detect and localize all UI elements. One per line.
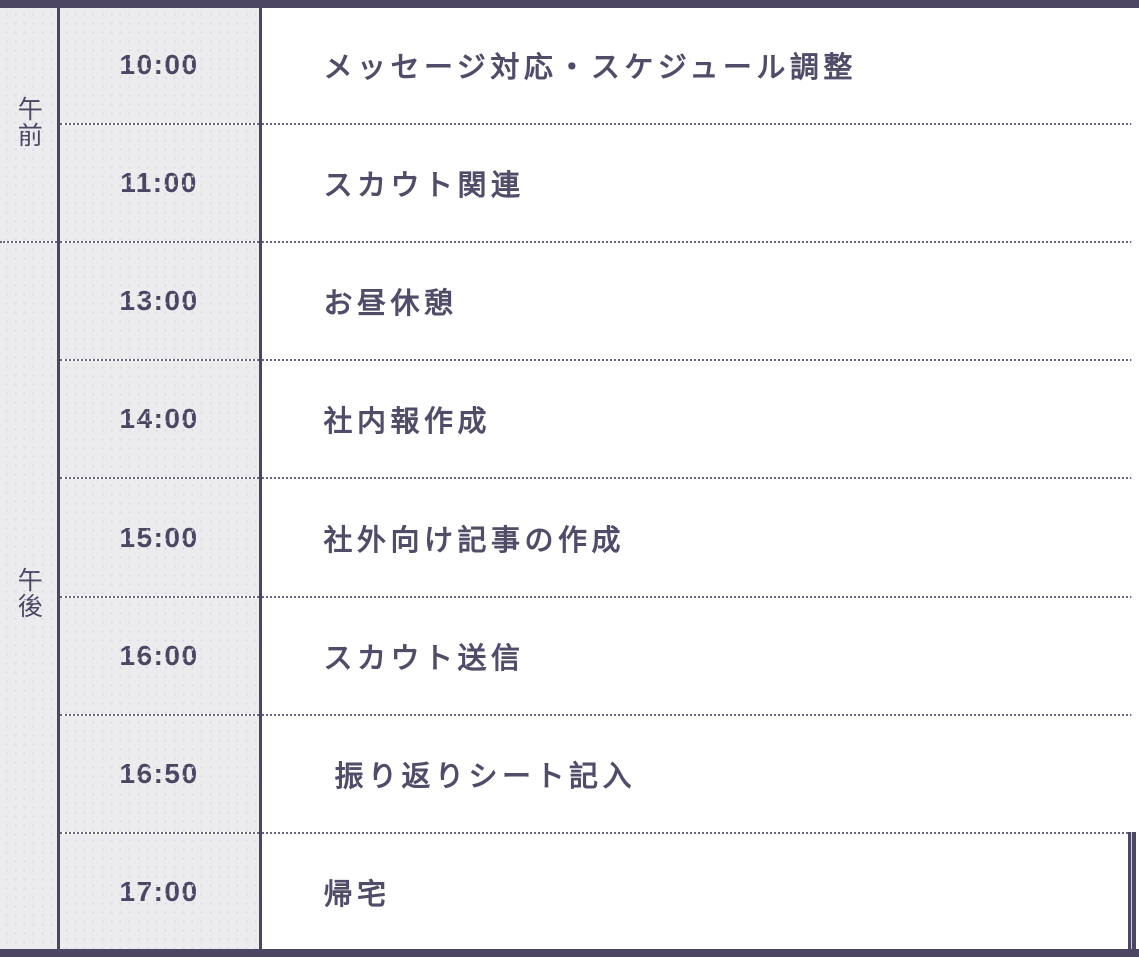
time-cell: 15:00: [58, 478, 260, 596]
table-row: 16:00 スカウト送信: [0, 597, 1132, 715]
task-cell: スカウト送信: [260, 597, 1132, 715]
table-row: 11:00 スカウト関連: [0, 124, 1132, 242]
task-cell: 帰宅: [260, 833, 1132, 949]
time-cell: 16:00: [58, 597, 260, 715]
time-value: 13:00: [119, 285, 198, 316]
table-row: 16:50 振り返りシート記入: [0, 715, 1132, 833]
task-value: 社外向け記事の作成: [324, 525, 626, 557]
task-cell: メッセージ対応・スケジュール調整: [260, 8, 1132, 124]
table-row: 14:00 社内報作成: [0, 360, 1132, 478]
time-value: 15:00: [119, 522, 198, 553]
table-row: 午前 10:00 メッセージ対応・スケジュール調整: [0, 8, 1132, 124]
time-cell: 17:00: [58, 833, 260, 949]
task-value: スカウト送信: [324, 643, 525, 675]
task-cell: 社外向け記事の作成: [260, 478, 1132, 596]
time-value: 11:00: [120, 167, 198, 198]
task-value: お昼休憩: [324, 288, 458, 320]
period-cell-afternoon: 午後: [0, 242, 58, 949]
time-cell: 16:50: [58, 715, 260, 833]
task-cell: 振り返りシート記入: [260, 715, 1132, 833]
task-cell: スカウト関連: [260, 124, 1132, 242]
time-cell: 13:00: [58, 242, 260, 360]
period-cell-morning: 午前: [0, 8, 58, 242]
task-value: 社内報作成: [324, 406, 492, 438]
schedule-grid: 午前 10:00 メッセージ対応・スケジュール調整 11:00 スカウト関連: [0, 8, 1136, 949]
time-cell: 14:00: [58, 360, 260, 478]
task-cell: 社内報作成: [260, 360, 1132, 478]
time-value: 16:00: [119, 640, 198, 671]
table-row: 15:00 社外向け記事の作成: [0, 478, 1132, 596]
time-value: 14:00: [119, 403, 198, 434]
daily-schedule-table: 午前 10:00 メッセージ対応・スケジュール調整 11:00 スカウト関連: [0, 0, 1139, 957]
time-cell: 10:00: [58, 8, 260, 124]
task-value: 帰宅: [324, 879, 391, 911]
period-label-afternoon: 午後: [14, 567, 42, 619]
task-value: スカウト関連: [324, 170, 525, 202]
task-value: メッセージ対応・スケジュール調整: [324, 52, 857, 84]
time-value: 17:00: [119, 876, 198, 907]
table-row: 17:00 帰宅: [0, 833, 1132, 949]
task-cell: お昼休憩: [260, 242, 1132, 360]
time-value: 10:00: [119, 49, 198, 80]
time-cell: 11:00: [58, 124, 260, 242]
task-value: 振り返りシート記入: [335, 761, 637, 793]
period-label-morning: 午前: [14, 96, 42, 148]
table-row: 午後 13:00 お昼休憩: [0, 242, 1132, 360]
time-value: 16:50: [119, 758, 198, 789]
